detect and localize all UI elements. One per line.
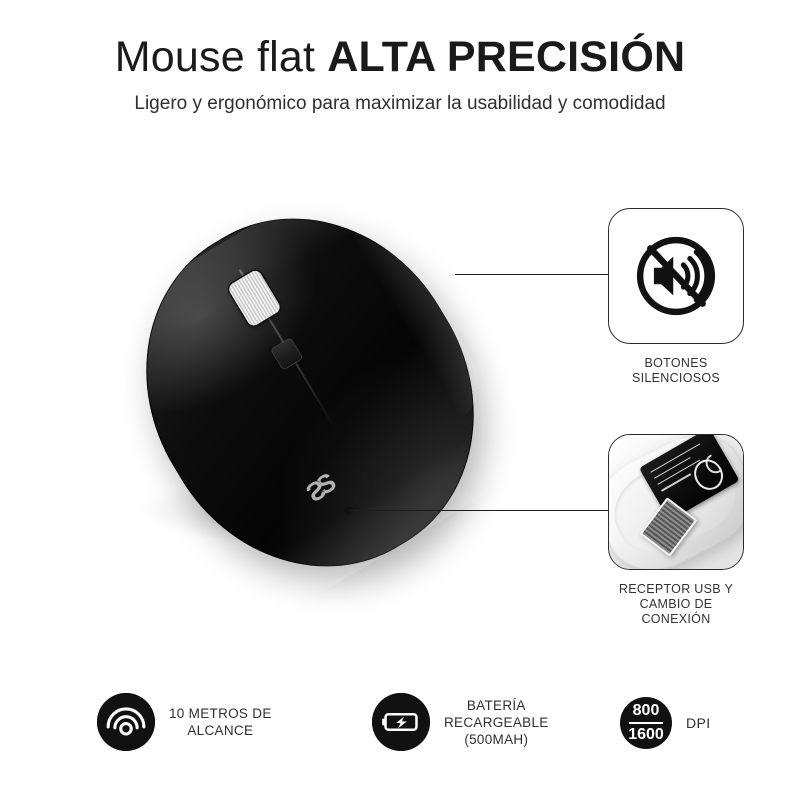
feature-label-line: (500MAH) — [444, 731, 549, 748]
callout-label-line: RECEPTOR USB Y — [608, 582, 744, 597]
dpi-badge: 800 1600 — [620, 697, 672, 749]
infographic-page: Mouse flat ALTA PRECISIÓN Ligero y ergon… — [0, 0, 800, 800]
feature-label-line: BATERÍA — [444, 697, 549, 714]
title-bold-part: ALTA PRECISIÓN — [327, 33, 685, 81]
dpi-value-high: 1600 — [628, 726, 664, 743]
header: Mouse flat ALTA PRECISIÓN Ligero y ergon… — [0, 30, 800, 115]
callout-card-silent-buttons — [608, 208, 744, 344]
callout-label-line: CAMBIO DE — [608, 597, 744, 612]
usb-receiver-photo — [609, 435, 743, 569]
feature-label-line: RECARGEABLE — [444, 714, 549, 731]
feature-range: 10 METROS DE ALCANCE — [97, 693, 272, 751]
feature-dpi: 800 1600 DPI — [620, 697, 711, 749]
wireless-arcs-glyph — [97, 693, 155, 751]
feature-label-dpi: DPI — [686, 715, 711, 731]
label-text-line — [651, 443, 701, 472]
dpi-value-low: 800 — [633, 703, 660, 720]
product-image: SS — [60, 175, 580, 605]
callout-label-silent-buttons: BOTONES SILENCIOSOS — [608, 356, 744, 386]
leader-line-usb-receiver — [350, 510, 610, 511]
leader-line-silent-buttons — [455, 274, 610, 275]
muted-speaker-icon — [630, 230, 722, 322]
mouse-underside-body — [608, 434, 744, 570]
feature-strip: 10 METROS DE ALCANCE BATERÍA RECARGEABLE… — [0, 680, 800, 770]
title-light-part: Mouse flat — [115, 33, 328, 81]
page-subtitle: Ligero y ergonómico para maximizar la us… — [0, 93, 800, 115]
dpi-divider — [629, 722, 663, 725]
page-title: Mouse flat ALTA PRECISIÓN — [0, 30, 800, 84]
feature-battery: BATERÍA RECARGEABLE (500MAH) — [372, 693, 549, 751]
callout-card-usb-receiver — [608, 434, 744, 570]
feature-label-battery: BATERÍA RECARGEABLE (500MAH) — [444, 697, 549, 748]
callout-label-usb-receiver: RECEPTOR USB Y CAMBIO DE CONEXIÓN — [608, 582, 744, 627]
feature-label-range: 10 METROS DE ALCANCE — [169, 705, 272, 739]
feature-label-line: 10 METROS DE — [169, 705, 272, 722]
callout-label-line: SILENCIOSOS — [608, 371, 744, 386]
callout-label-line: CONEXIÓN — [608, 612, 744, 627]
callout-silent-buttons: BOTONES SILENCIOSOS — [608, 208, 744, 386]
callout-label-line: BOTONES — [608, 356, 744, 371]
mouse-illustration: SS — [86, 161, 535, 625]
battery-charging-icon — [372, 693, 430, 751]
battery-bolt-glyph — [372, 693, 430, 751]
wireless-signal-icon — [97, 693, 155, 751]
feature-label-line: ALCANCE — [169, 722, 272, 739]
callout-usb-receiver: RECEPTOR USB Y CAMBIO DE CONEXIÓN — [608, 434, 744, 627]
label-text-line — [661, 473, 691, 491]
